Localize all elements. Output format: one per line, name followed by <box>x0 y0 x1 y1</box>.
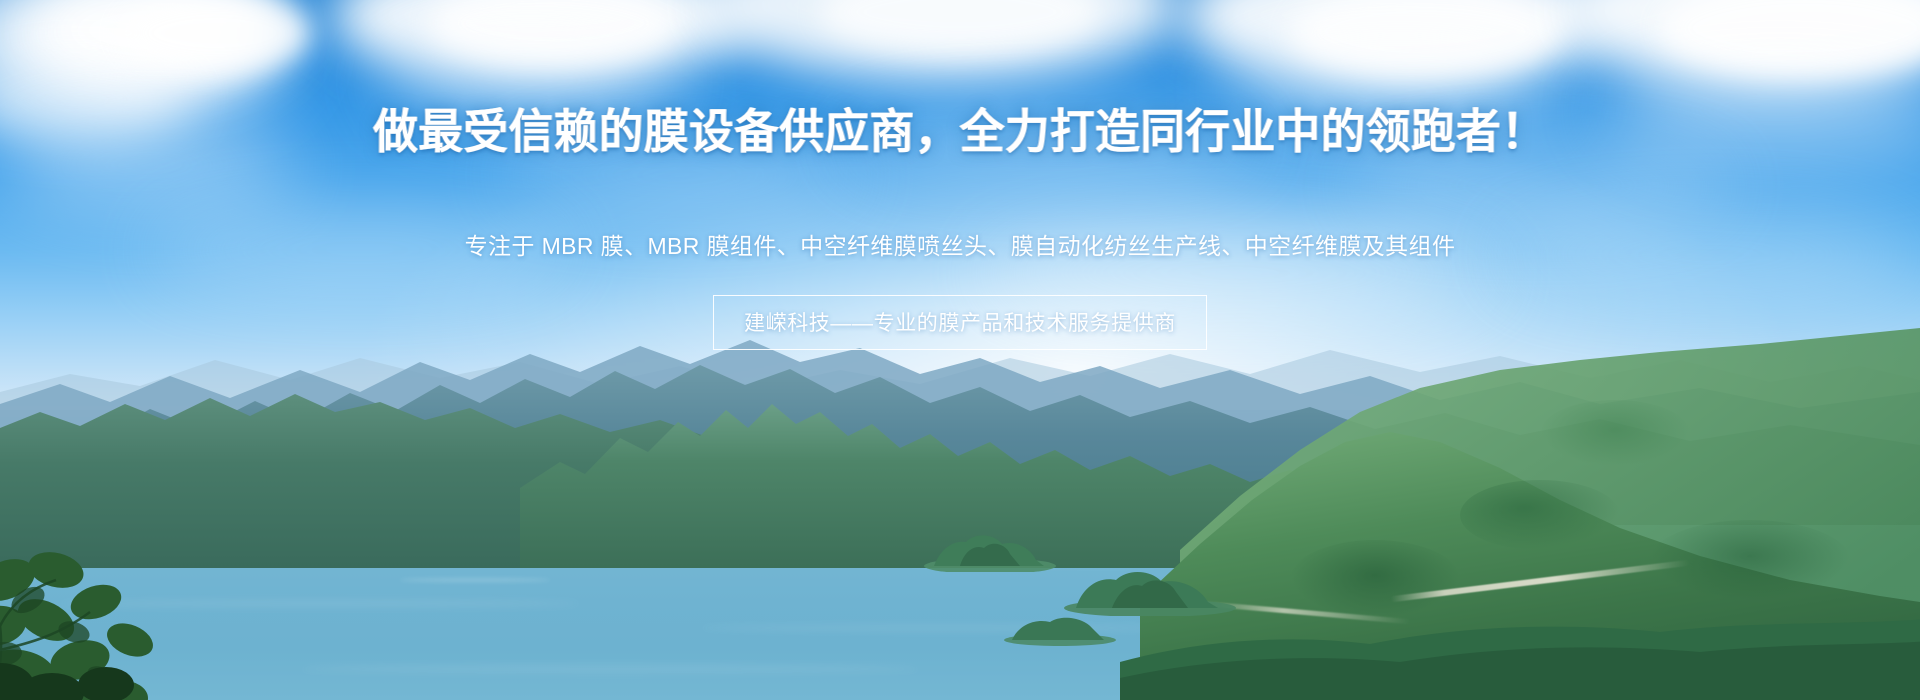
shoreline <box>1120 600 1920 700</box>
cloud <box>1350 150 1730 222</box>
cloud <box>840 110 1260 176</box>
hero-banner: 做最受信赖的膜设备供应商，全力打造同行业中的领跑者！ 专注于 MBR 膜、MBR… <box>0 0 1920 700</box>
tree-cluster <box>1540 400 1690 466</box>
lake-island <box>1000 612 1120 646</box>
cloud <box>1230 48 1570 134</box>
banner-tagline-box[interactable]: 建嵘科技——专业的膜产品和技术服务提供商 <box>713 295 1207 350</box>
cloud <box>150 210 570 290</box>
lake-island <box>920 528 1060 572</box>
lake-island <box>1060 560 1240 616</box>
cloud <box>0 120 300 210</box>
tree-cluster <box>1460 480 1620 550</box>
cloud <box>500 140 860 210</box>
cloud <box>1500 215 1920 295</box>
cloud <box>380 40 680 120</box>
foreground-foliage <box>0 655 150 700</box>
